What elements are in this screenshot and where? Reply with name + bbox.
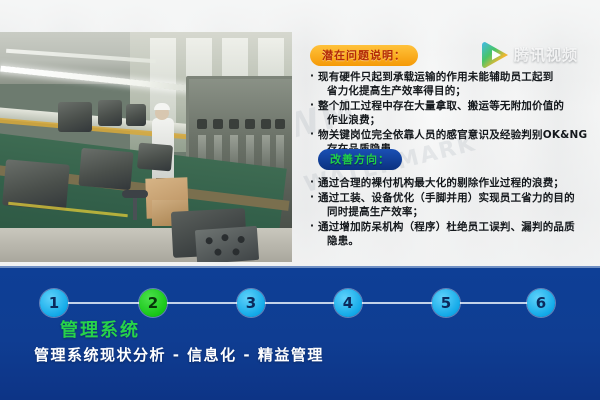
step-circle-2[interactable]: 2 (139, 289, 167, 317)
list-item: 通过工装、设备优化（手脚并用）实现员工省力的目的 同时提高生产效率； (310, 191, 594, 219)
photo-metal-part (195, 226, 259, 262)
list-item: 通过合理的裸付机构最大化的剔除作业过程的浪费； (310, 176, 594, 190)
problem-badge: 潜在问题说明： (310, 45, 418, 66)
bullet-line-cont: 同时提高生产效率； (318, 205, 594, 219)
step-connector-line (54, 302, 548, 304)
factory-photo (0, 32, 292, 262)
improve-badge: 改善方向： (318, 149, 402, 170)
bullet-line: 物关键岗位完全依靠人员的感官意识及经验判别OK&NG (318, 129, 587, 141)
bullet-line: 通过增加防呆机构（程序）杜绝员工误判、漏判的品质 (318, 221, 575, 233)
photo-equipment (137, 143, 173, 172)
band-divider (0, 266, 600, 268)
watermark: 腾讯视频 (480, 38, 592, 72)
improve-badge-row: 改善方向： (318, 148, 402, 170)
step-circle-6[interactable]: 6 (527, 289, 555, 317)
list-item: 现有硬件只起到承载运输的作用未能辅助员工起到 省力化提高生产效率得目的； (310, 70, 594, 98)
step-circle-1[interactable]: 1 (40, 289, 68, 317)
tencent-video-play-icon (480, 40, 510, 70)
watermark-brand-text: 腾讯视频 (514, 44, 578, 65)
photo-equipment (98, 100, 122, 126)
photo-stool (122, 190, 148, 198)
bullet-line: 通过工装、设备优化（手脚并用）实现员工省力的目的 (318, 192, 575, 204)
step-label: 1 (49, 294, 59, 312)
step-circle-3[interactable]: 3 (237, 289, 265, 317)
step-circle-4[interactable]: 4 (334, 289, 362, 317)
photo-equipment (126, 104, 146, 126)
photo-stool-leg (133, 198, 137, 220)
list-item: 整个加工过程中存在大量拿取、搬运等无附加价值的 作业浪费； (310, 99, 594, 127)
photo-worker-cap (154, 103, 170, 110)
bullet-line: 通过合理的裸付机构最大化的剔除作业过程的浪费； (318, 177, 564, 189)
bullet-line-cont: 作业浪费； (318, 113, 594, 127)
section-title: 管理系统 (60, 316, 140, 342)
bullet-line: 现有硬件只起到承载运输的作用未能辅助员工起到 (318, 71, 553, 83)
bullet-line-cont: 隐患。 (318, 234, 594, 248)
step-progress: 1 2 3 4 5 6 (0, 276, 600, 310)
bullet-line: 整个加工过程中存在大量拿取、搬运等无附加价值的 (318, 100, 564, 112)
photo-equipment (78, 148, 133, 190)
step-label: 2 (148, 294, 158, 312)
section-subtitle: 管理系统现状分析 - 信息化 - 精益管理 (34, 344, 324, 365)
problem-badge-row: 潜在问题说明： (310, 44, 418, 66)
bullet-line-cont: 省力化提高生产效率得目的； (318, 84, 594, 98)
step-circle-5[interactable]: 5 (432, 289, 460, 317)
step-label: 5 (441, 294, 451, 312)
list-item: 通过增加防呆机构（程序）杜绝员工误判、漏判的品质 隐患。 (310, 220, 594, 248)
photo-equipment (58, 102, 92, 132)
step-label: 3 (246, 294, 256, 312)
step-label: 4 (343, 294, 353, 312)
bottom-band: 1 2 3 4 5 6 管理系统 管理系统现状分析 - 信息化 - 精益管理 (0, 266, 600, 400)
improve-bullet-list: 通过合理的裸付机构最大化的剔除作业过程的浪费； 通过工装、设备优化（手脚并用）实… (310, 176, 594, 249)
problem-bullet-list: 现有硬件只起到承载运输的作用未能辅助员工起到 省力化提高生产效率得目的； 整个加… (310, 70, 594, 157)
step-label: 6 (536, 294, 546, 312)
slide-root: WM WATERMARK (0, 0, 600, 400)
